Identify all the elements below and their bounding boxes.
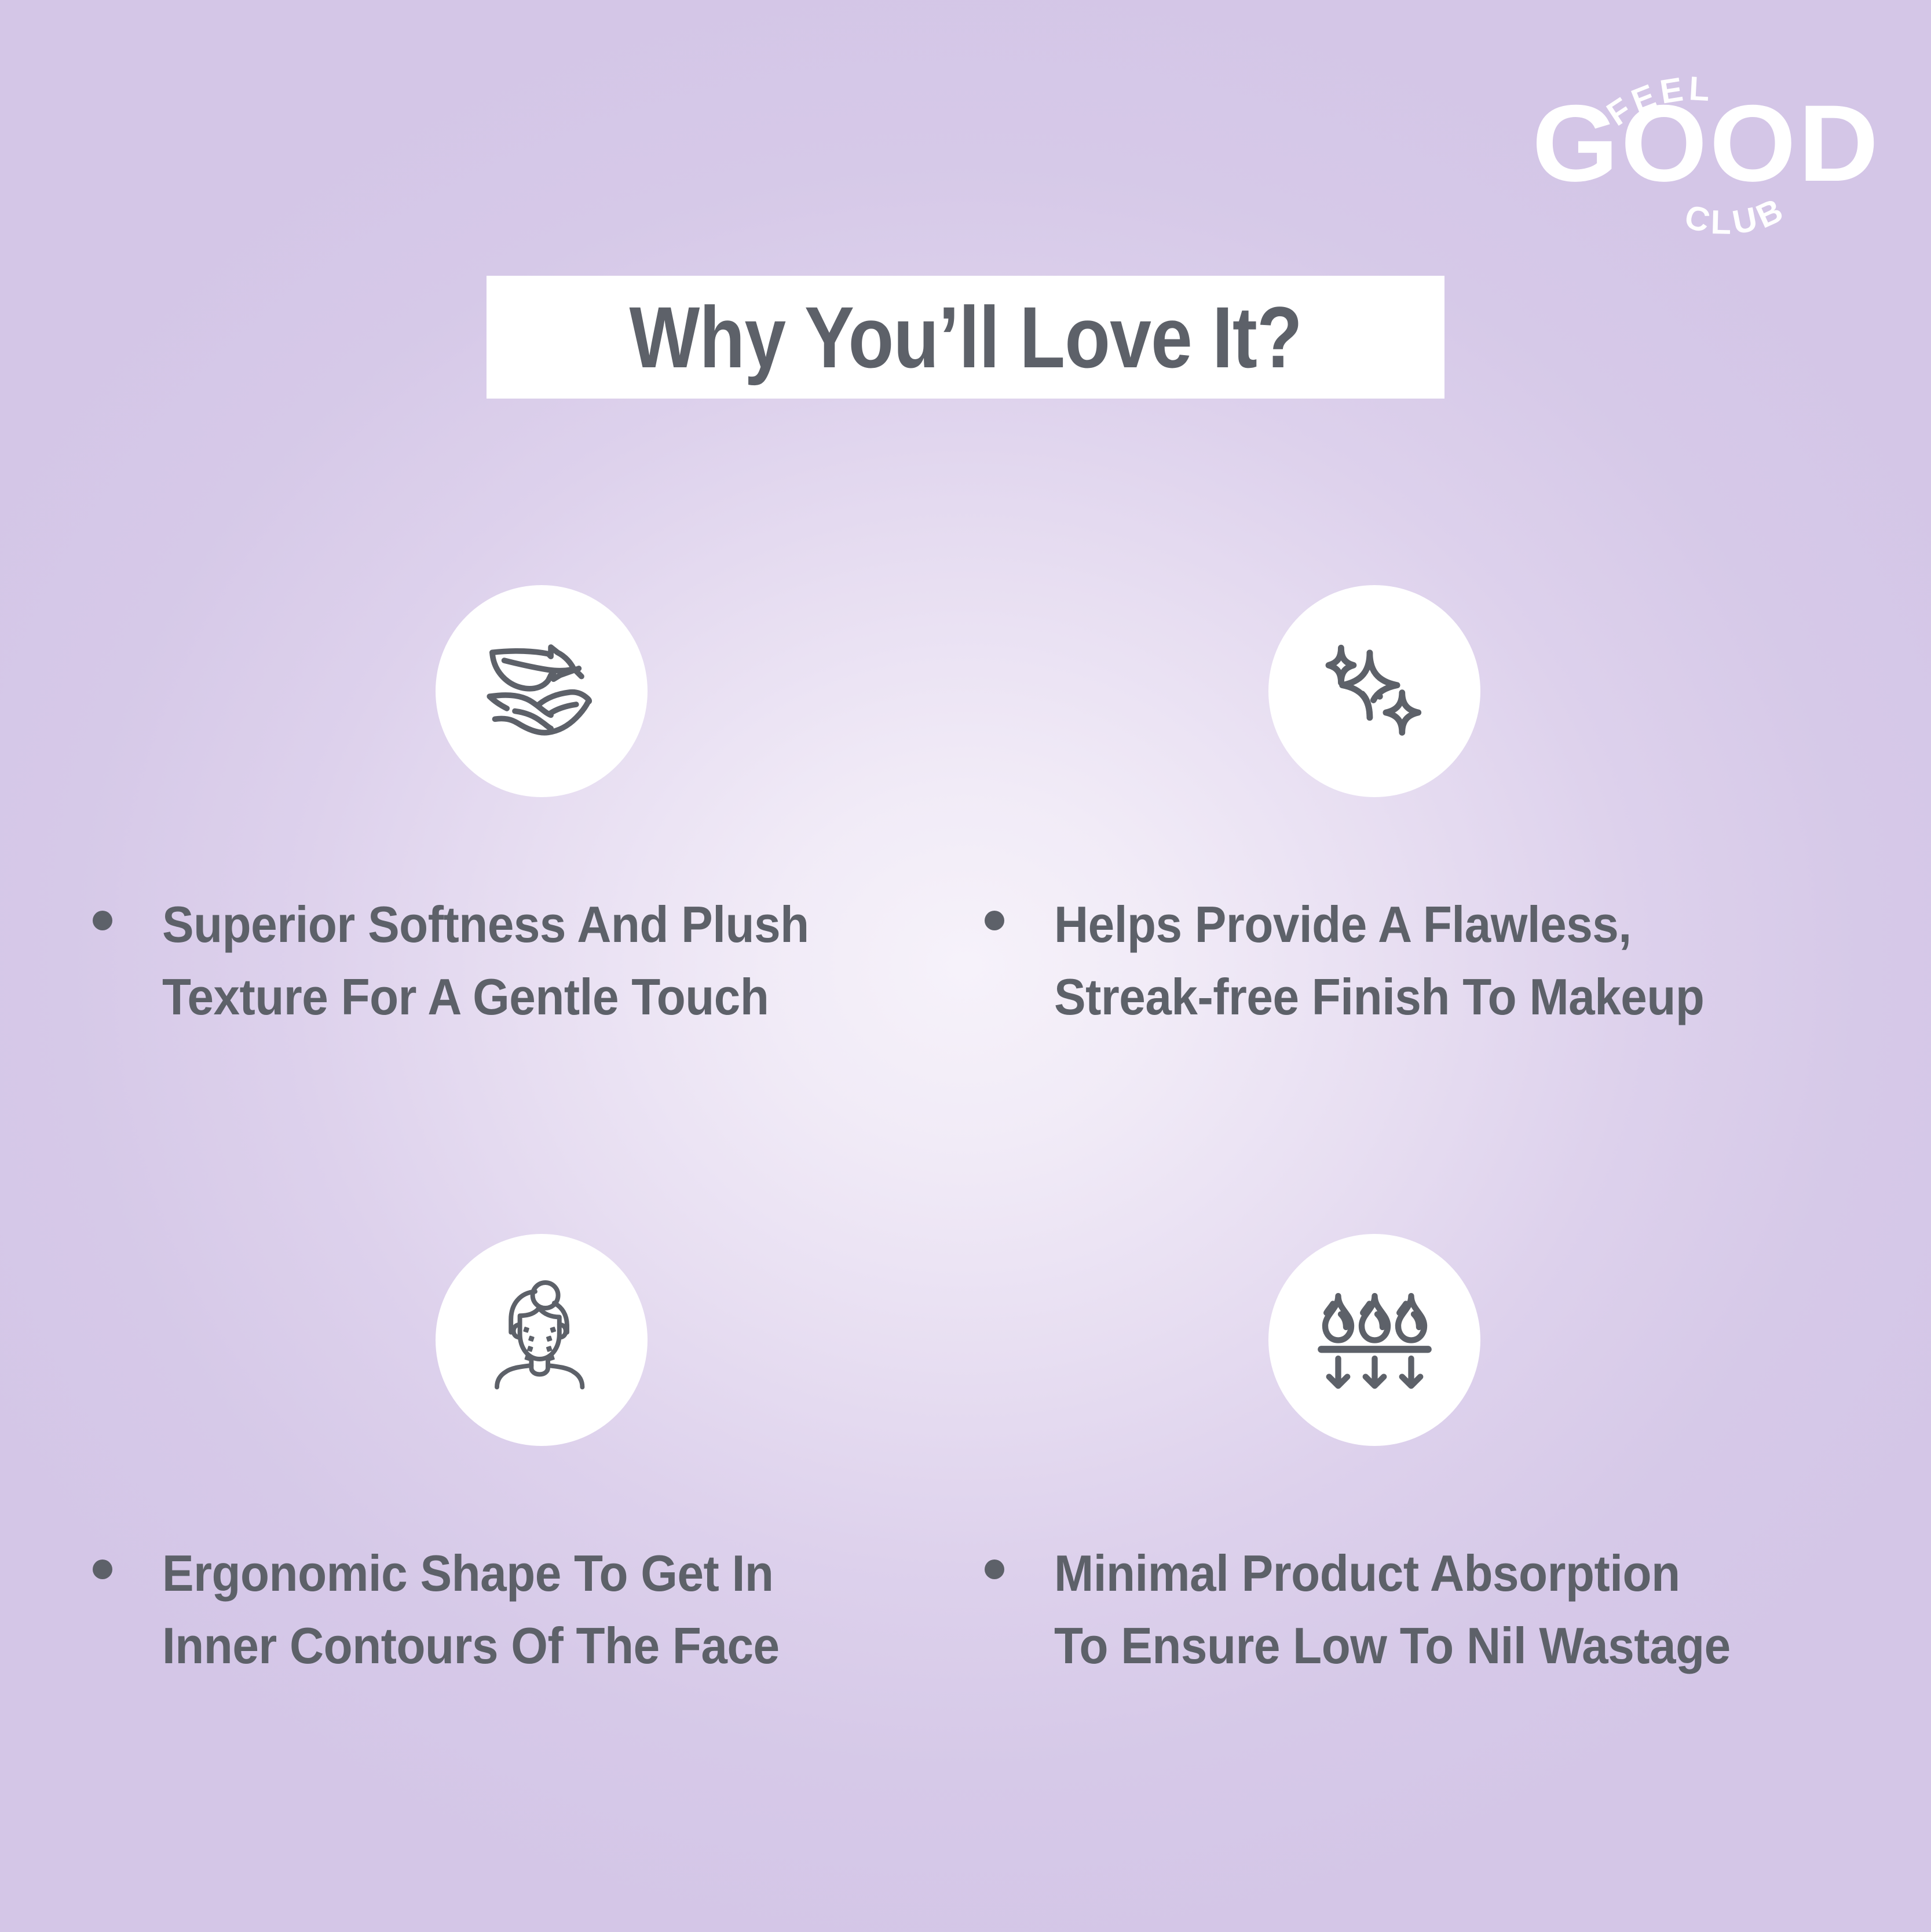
feature-label: Superior Softness And Plush Texture For …	[162, 889, 809, 1033]
droplets-absorption-icon	[1310, 1275, 1440, 1405]
logo-good-text: GOOD	[1532, 83, 1881, 204]
icon-circle	[436, 1234, 648, 1446]
icon-circle	[436, 585, 648, 797]
bullet-point	[985, 911, 1004, 930]
feature-label: Minimal Product Absorption To Ensure Low…	[1054, 1537, 1731, 1682]
bullet-point	[93, 911, 112, 930]
page-title: Why You’ll Love It?	[629, 294, 1301, 381]
brand-logo: FEEL GOOD CLUB	[1521, 25, 1892, 257]
feature-card-softness: Superior Softness And Plush Texture For …	[93, 585, 961, 1033]
bullet-point	[985, 1560, 1004, 1579]
feature-card-ergonomic-shape: Ergonomic Shape To Get In Inner Contours…	[93, 1234, 961, 1682]
feature-card-flawless-finish: Helps Provide A Flawless, Streak-free Fi…	[985, 585, 1853, 1033]
icon-circle	[1268, 1234, 1480, 1446]
feather-on-hand-icon	[475, 624, 608, 758]
sparkles-icon	[1312, 629, 1437, 754]
icon-circle	[1268, 585, 1480, 797]
bullet-point	[93, 1560, 112, 1579]
feature-label: Ergonomic Shape To Get In Inner Contours…	[162, 1537, 780, 1682]
feature-card-minimal-absorption: Minimal Product Absorption To Ensure Low…	[985, 1234, 1853, 1682]
promo-poster: FEEL GOOD CLUB Why You’ll Love It?	[0, 0, 1931, 1932]
woman-face-with-spots-icon	[478, 1276, 605, 1404]
feature-label: Helps Provide A Flawless, Streak-free Fi…	[1054, 889, 1704, 1033]
title-banner: Why You’ll Love It?	[487, 276, 1444, 399]
